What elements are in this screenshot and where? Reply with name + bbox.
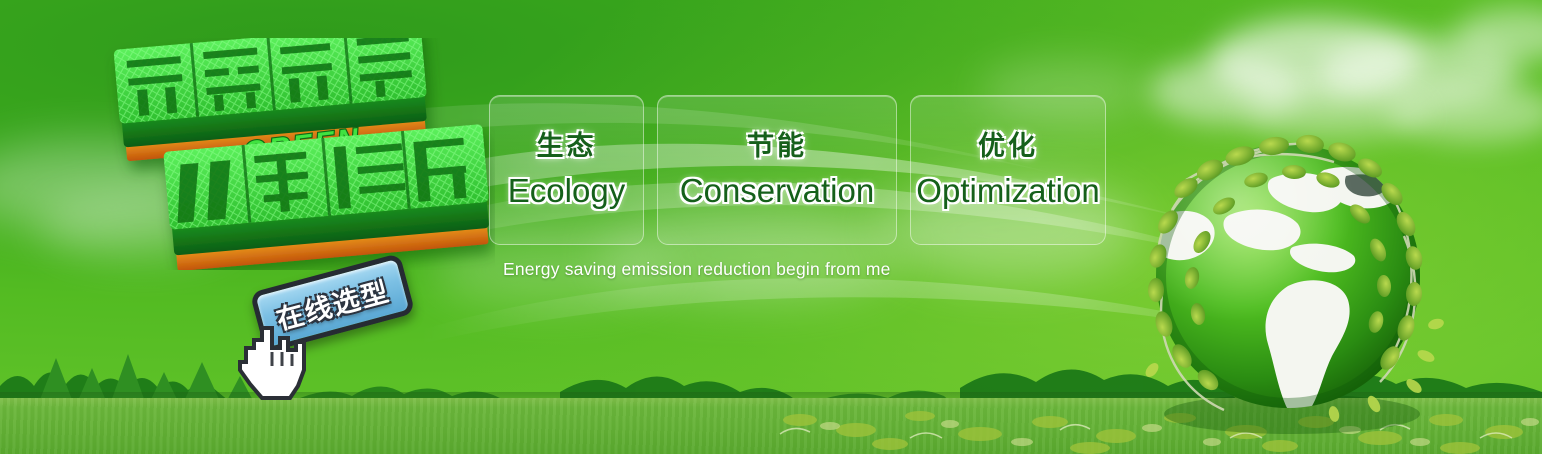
card-title-cn: 节能 bbox=[747, 133, 807, 160]
tagline: Energy saving emission reduction begin f… bbox=[503, 259, 891, 280]
feature-cards: 生态 Ecology 节能 Conservation 优化 Optimizati… bbox=[489, 95, 1106, 245]
card-title-en: Optimization bbox=[916, 174, 1099, 207]
card-title-en: Conservation bbox=[680, 174, 874, 207]
grass-texture bbox=[0, 398, 1542, 454]
card-title-en: Ecology bbox=[508, 174, 625, 207]
card-ecology[interactable]: 生态 Ecology bbox=[489, 95, 644, 245]
green-energy-banner: GREEN bbox=[0, 0, 1542, 454]
card-title-cn: 生态 bbox=[537, 133, 597, 160]
card-conservation[interactable]: 节能 Conservation bbox=[657, 95, 897, 245]
card-title-cn: 优化 bbox=[978, 133, 1038, 160]
card-optimization[interactable]: 优化 Optimization bbox=[910, 95, 1106, 245]
